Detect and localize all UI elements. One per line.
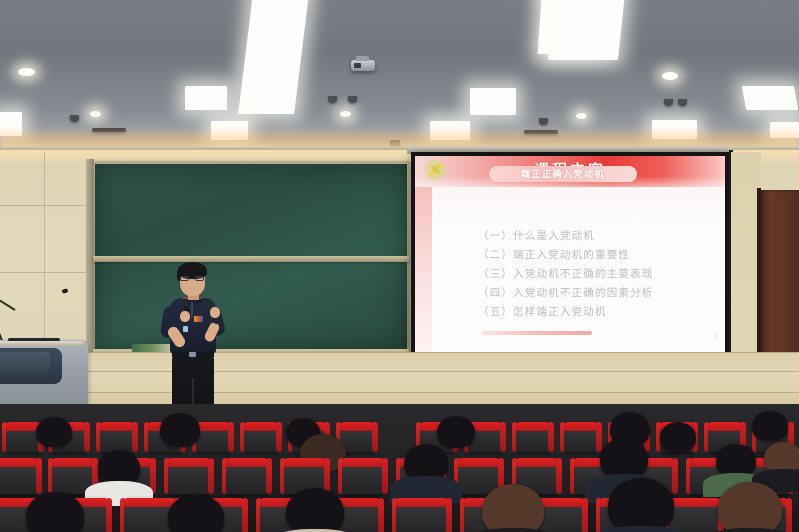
ceiling-panel-light	[211, 121, 248, 140]
audience-head	[752, 411, 788, 441]
ceiling-panel-light	[0, 112, 22, 136]
seat[interactable]	[6, 422, 40, 452]
audience-head	[437, 416, 475, 448]
ceiling-panel-light	[770, 122, 799, 138]
ceiling-panel-light	[470, 88, 516, 115]
seat[interactable]	[342, 458, 384, 494]
ceiling	[0, 0, 799, 152]
seat[interactable]	[168, 458, 210, 494]
presentation-slide: 课程内容 端正正确入党动机 （一）什么是入党动机 （二）端正入党动机的重要性 （…	[415, 156, 725, 353]
wall-seam	[0, 272, 92, 273]
wall-seam	[44, 152, 45, 347]
seat[interactable]	[226, 458, 268, 494]
ceiling-camera-icon	[328, 96, 337, 103]
audience-head	[98, 450, 140, 486]
glasses-icon	[180, 276, 205, 281]
presenter-left-hand	[180, 311, 190, 322]
ceiling-downlight	[18, 68, 35, 76]
ceiling-speaker	[92, 128, 126, 132]
audience-head	[168, 494, 224, 532]
ceiling-downlight	[662, 72, 678, 80]
seat[interactable]	[0, 458, 38, 494]
audience-head	[600, 438, 648, 480]
audience-head	[716, 444, 756, 478]
lecture-hall-photo: 课程内容 端正正确入党动机 （一）什么是入党动机 （二）端正入党动机的重要性 （…	[0, 0, 799, 532]
seat[interactable]	[396, 498, 448, 532]
ceiling-camera-icon	[348, 96, 357, 103]
ceiling-camera-icon	[678, 99, 687, 106]
presenter-badge	[183, 326, 188, 332]
seat[interactable]	[516, 422, 550, 452]
audience-head	[404, 444, 448, 482]
slide-bullet-5: （五）怎样端正入党动机	[478, 304, 607, 319]
audience-head	[286, 488, 344, 532]
ceiling-panel-light	[548, 0, 626, 60]
presenter	[150, 258, 236, 410]
slide-bullet-3: （三）入党动机不正确的主要表现	[478, 266, 654, 281]
ceiling-downlight	[576, 113, 587, 119]
audience-head	[608, 478, 674, 532]
ceiling-panel-light	[652, 120, 697, 139]
slide-footer-accent-bar	[482, 331, 592, 335]
ceiling-panel-light	[238, 0, 310, 114]
ceiling-panel-light	[742, 86, 798, 110]
ceiling-speaker	[390, 140, 400, 146]
slide-subtitle-pill: 端正正确入党动机	[489, 166, 637, 182]
seat[interactable]	[100, 422, 134, 452]
ceiling-camera-icon	[664, 99, 673, 106]
slide-left-accent-bar	[415, 187, 432, 353]
seat[interactable]	[244, 422, 278, 452]
presenter-right-hand	[210, 307, 220, 318]
presenter-shirt-placket	[191, 302, 193, 318]
audience-head	[36, 417, 72, 447]
lectern-desktop	[0, 341, 84, 346]
slide-page-number: 2	[714, 332, 718, 340]
slide-subtitle-text: 端正正确入党动机	[489, 167, 637, 180]
slide-bullet-2: （二）端正入党动机的重要性	[478, 247, 630, 262]
ceiling-projector	[351, 60, 375, 71]
ceiling-downlight	[90, 111, 101, 117]
ceiling-camera-icon	[539, 118, 548, 125]
seat[interactable]	[668, 498, 720, 532]
slide-bullet-4: （四）入党动机不正确的因素分析	[478, 285, 654, 300]
blackboard-divider-rail	[93, 256, 409, 262]
ceiling-panel-light	[430, 121, 470, 140]
audience-head	[160, 413, 200, 447]
audience-head	[482, 484, 544, 532]
presenter-belt	[172, 352, 214, 357]
slide-bullet-1: （一）什么是入党动机	[478, 228, 595, 243]
wall-seam	[0, 205, 92, 206]
ceiling-downlight	[340, 111, 351, 117]
stage-front-wainscot	[0, 352, 799, 410]
audience-head	[764, 442, 799, 474]
audience-area	[0, 404, 799, 532]
seat[interactable]	[564, 422, 598, 452]
presenter-shirt-logo	[194, 316, 203, 322]
seat[interactable]	[196, 422, 230, 452]
ceiling-camera-icon	[70, 115, 79, 122]
presenter-trousers	[172, 356, 214, 410]
ceiling-panel-light	[185, 86, 227, 110]
ceiling-speaker	[524, 130, 558, 134]
audience-head	[660, 422, 696, 452]
lectern-screen[interactable]	[0, 352, 50, 374]
audience-head	[718, 482, 782, 532]
audience-head	[26, 492, 84, 532]
